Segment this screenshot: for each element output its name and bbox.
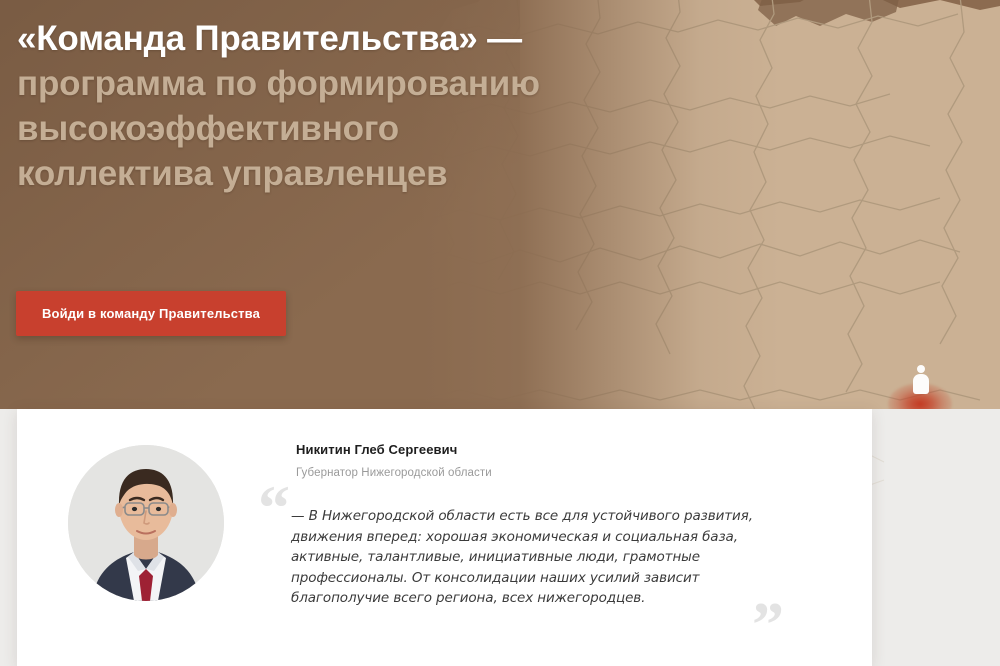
map-pin-icon [912, 365, 929, 395]
portrait-photo-svg [68, 445, 224, 601]
landing-page: «Команда Правительства» — программа по ф… [0, 0, 1000, 666]
hero-copy: «Команда Правительства» — программа по ф… [17, 16, 657, 196]
hero-section: «Команда Правительства» — программа по ф… [0, 0, 1000, 409]
headline-line-2: программа по формированию [17, 61, 657, 106]
page-title: «Команда Правительства» — программа по ф… [17, 16, 657, 196]
join-team-button[interactable]: Войди в команду Правительства [16, 291, 286, 336]
avatar [68, 445, 224, 601]
headline-line-1: «Команда Правительства» — [17, 16, 657, 61]
map-pin-body [913, 374, 929, 394]
headline-line-3: высокоэффективного [17, 106, 657, 151]
headline-line-4: коллектива управленцев [17, 151, 657, 196]
map-pin-head [917, 365, 925, 373]
map-marker[interactable] [880, 355, 960, 409]
governor-quote-card [17, 409, 872, 666]
